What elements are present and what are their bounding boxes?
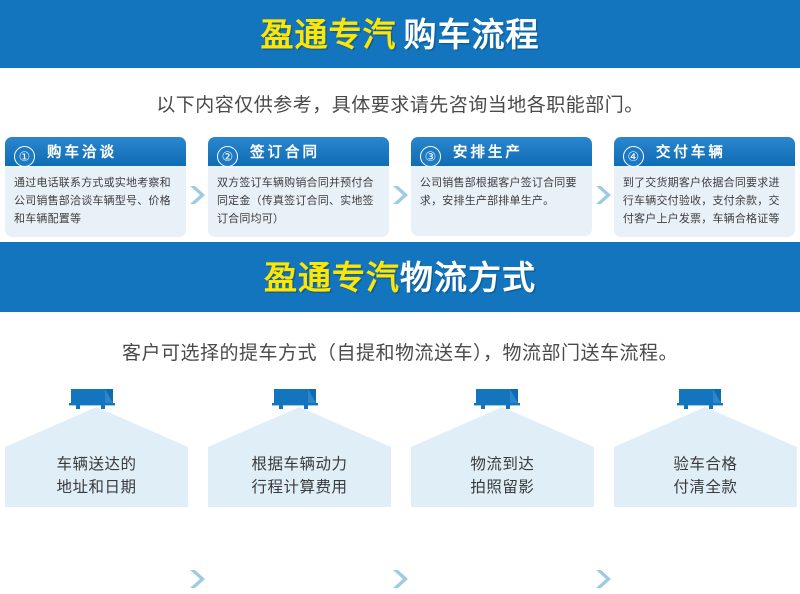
purchase-subtitle: 以下内容仅供参考，具体要求请先咨询当地各职能部门。 bbox=[0, 90, 800, 117]
truck-icon bbox=[272, 386, 326, 412]
logistics-stage-3[interactable]: 物流到达 拍照留影 bbox=[411, 383, 592, 507]
logistics-stage-label-3: 物流到达 拍照留影 bbox=[411, 454, 594, 499]
step-card-1[interactable]: ① 购车洽谈 通过电话联系方式或实地考察和公司销售部洽谈车辆型号、价格和车辆配置… bbox=[5, 137, 186, 237]
logistics-stage-label-4: 验车合格 付清全款 bbox=[614, 454, 797, 499]
step-header-1: ① 购车洽谈 bbox=[5, 137, 186, 166]
purchase-title-plain: 购车流程 bbox=[404, 16, 540, 53]
logistics-stage-line2: 付清全款 bbox=[614, 477, 797, 499]
step-body-2: 双方签订车辆购销合同并预付合同定金（传真签订合同、实地签订合同均可） bbox=[208, 166, 389, 237]
logistics-stage-line1: 验车合格 bbox=[614, 454, 797, 476]
truck-icon bbox=[474, 386, 528, 412]
logistics-stage-line1: 根据车辆动力 bbox=[208, 454, 391, 476]
step-title-3: 安排生产 bbox=[453, 141, 523, 162]
logistics-banner: 盈通专汽物流方式 bbox=[0, 242, 800, 312]
step-body-1: 通过电话联系方式或实地考察和公司销售部洽谈车辆型号、价格和车辆配置等 bbox=[5, 166, 186, 237]
step-number-badge-3: ③ bbox=[420, 146, 441, 167]
step-header-2: ② 签订合同 bbox=[208, 137, 389, 166]
step-title-4: 交付车辆 bbox=[656, 141, 726, 162]
logistics-subtitle: 客户可选择的提车方式（自提和物流送车），物流部门送车流程。 bbox=[0, 338, 800, 365]
step-number-badge-2: ② bbox=[217, 146, 238, 167]
logistics-banner-title: 盈通专汽物流方式 bbox=[264, 261, 536, 294]
logistics-stage-line2: 地址和日期 bbox=[5, 477, 188, 499]
chevron-right-icon bbox=[188, 569, 206, 589]
logistics-stage-line2: 行程计算费用 bbox=[208, 477, 391, 499]
logistics-title-accent: 盈通专汽 bbox=[264, 259, 400, 296]
step-card-4[interactable]: ④ 交付车辆 到了交货期客户依据合同要求进行车辆交付验收，支付余款，交付客户上户… bbox=[614, 137, 795, 237]
logistics-stage-line1: 物流到达 bbox=[411, 454, 594, 476]
step-body-4: 到了交货期客户依据合同要求进行车辆交付验收，支付余款，交付客户上户发票，车辆合格… bbox=[614, 166, 795, 237]
chevron-right-icon bbox=[391, 569, 409, 589]
step-title-2: 签订合同 bbox=[250, 141, 320, 162]
truck-icon bbox=[69, 386, 123, 412]
step-number-badge-4: ④ bbox=[623, 146, 644, 167]
truck-icon bbox=[677, 386, 731, 412]
logistics-stages-row: 车辆送达的 地址和日期 根据车辆动力 行程计算费用 bbox=[0, 383, 800, 507]
logistics-stage-4[interactable]: 验车合格 付清全款 bbox=[614, 383, 795, 507]
step-number-badge-1: ① bbox=[14, 146, 35, 167]
purchase-steps-row: ① 购车洽谈 通过电话联系方式或实地考察和公司销售部洽谈车辆型号、价格和车辆配置… bbox=[0, 137, 800, 242]
step-card-2[interactable]: ② 签订合同 双方签订车辆购销合同并预付合同定金（传真签订合同、实地签订合同均可… bbox=[208, 137, 389, 237]
step-card-3[interactable]: ③ 安排生产 公司销售部根据客户签订合同要求，安排生产部排单生产。 bbox=[411, 137, 592, 236]
chevron-right-icon bbox=[594, 185, 612, 205]
purchase-banner: 盈通专汽购车流程 bbox=[0, 0, 800, 68]
step-header-4: ④ 交付车辆 bbox=[614, 137, 795, 166]
chevron-right-icon bbox=[391, 185, 409, 205]
chevron-right-icon bbox=[594, 569, 612, 589]
step-header-3: ③ 安排生产 bbox=[411, 137, 592, 166]
logistics-stage-label-2: 根据车辆动力 行程计算费用 bbox=[208, 454, 391, 499]
purchase-banner-title: 盈通专汽购车流程 bbox=[261, 18, 540, 51]
logistics-stage-line2: 拍照留影 bbox=[411, 477, 594, 499]
step-body-3: 公司销售部根据客户签订合同要求，安排生产部排单生产。 bbox=[411, 166, 592, 236]
logistics-stage-1[interactable]: 车辆送达的 地址和日期 bbox=[5, 383, 186, 507]
logistics-stage-label-1: 车辆送达的 地址和日期 bbox=[5, 454, 188, 499]
logistics-title-plain: 物流方式 bbox=[400, 259, 536, 296]
logistics-stage-2[interactable]: 根据车辆动力 行程计算费用 bbox=[208, 383, 389, 507]
chevron-right-icon bbox=[188, 185, 206, 205]
purchase-title-accent: 盈通专汽 bbox=[261, 16, 397, 53]
logistics-stage-line1: 车辆送达的 bbox=[5, 454, 188, 476]
step-title-1: 购车洽谈 bbox=[47, 141, 117, 162]
